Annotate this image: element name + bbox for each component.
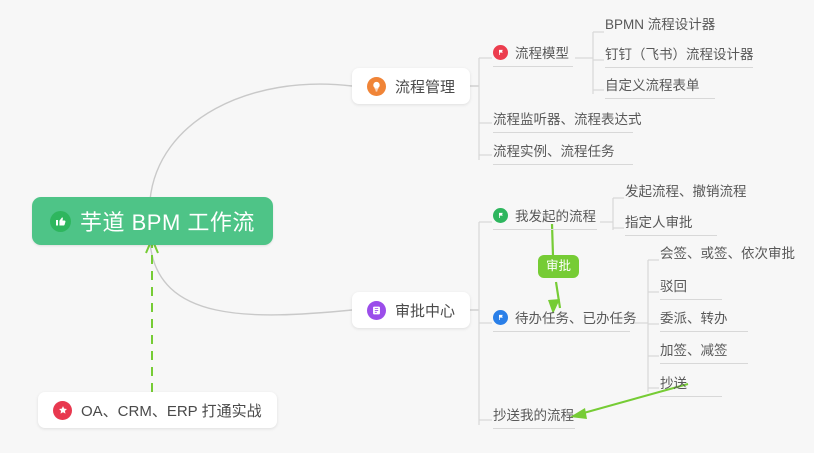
star-icon [53,401,72,420]
footer-node-oa-crm-erp[interactable]: OA、CRM、ERP 打通实战 [38,392,277,428]
flag-icon [493,208,508,223]
leaf-label: 流程模型 [515,42,569,62]
branch-label-process-management: 流程管理 [395,76,455,97]
leaf-label: 我发起的流程 [515,205,596,225]
mindmap-canvas: 芋道 BPM 工作流 流程管理 审批中心 [0,0,814,453]
leaf-label: 流程监听器、流程表达式 [493,108,642,128]
leaf-label: 会签、或签、依次审批 [660,242,795,262]
leaf-label: 流程实例、流程任务 [493,140,615,160]
leaf-assigned-approval[interactable]: 指定人审批 [625,211,717,236]
root-node[interactable]: 芋道 BPM 工作流 [32,197,273,245]
branch-label-approval-center: 审批中心 [395,300,455,321]
leaf-label: 驳回 [660,275,687,295]
leaf-dingtalk-designer[interactable]: 钉钉（飞书）流程设计器 [605,43,753,68]
root-label: 芋道 BPM 工作流 [80,205,255,237]
leaf-process-instance[interactable]: 流程实例、流程任务 [493,140,633,165]
leaf-label: 抄送我的流程 [493,404,574,424]
branch-node-process-management[interactable]: 流程管理 [352,68,470,104]
thumbs-up-icon [50,211,71,232]
leaf-label: 委派、转办 [660,307,728,327]
leaf-label: 发起流程、撤销流程 [625,180,747,200]
link-root-to-approval-center [150,243,352,315]
leaf-label: 抄送 [660,372,687,392]
leaf-label: 指定人审批 [625,211,693,231]
leaf-cc[interactable]: 抄送 [660,372,722,397]
link-root-to-process-management [150,84,352,200]
leaf-my-processes[interactable]: 我发起的流程 [493,205,597,230]
leaf-process-listener[interactable]: 流程监听器、流程表达式 [493,108,633,133]
leaf-label: BPMN 流程设计器 [605,13,715,33]
footer-node-label: OA、CRM、ERP 打通实战 [81,400,262,421]
leaf-process-model[interactable]: 流程模型 [493,42,573,67]
leaf-label: 自定义流程表单 [605,74,700,94]
leaf-todo-tasks[interactable]: 待办任务、已办任务 [493,307,630,332]
annotation-badge-approval: 审批 [538,255,579,278]
leaf-delegate-transfer[interactable]: 委派、转办 [660,307,748,332]
leaf-add-remove-sign[interactable]: 加签、减签 [660,339,748,364]
leaf-reject[interactable]: 驳回 [660,275,722,300]
leaf-label: 加签、减签 [660,339,728,359]
leaf-cc-my-processes[interactable]: 抄送我的流程 [493,404,575,429]
leaf-label: 待办任务、已办任务 [515,307,637,327]
clipboard-icon [367,301,386,320]
leaf-label: 钉钉（飞书）流程设计器 [605,43,754,63]
leaf-bpmn-designer[interactable]: BPMN 流程设计器 [605,13,753,37]
lightbulb-icon [367,77,386,96]
leaf-multi-sign[interactable]: 会签、或签、依次审批 [660,242,788,266]
leaf-start-cancel-process[interactable]: 发起流程、撤销流程 [625,180,753,204]
flag-icon [493,45,508,60]
branch-node-approval-center[interactable]: 审批中心 [352,292,470,328]
flag-icon [493,310,508,325]
leaf-custom-form[interactable]: 自定义流程表单 [605,74,715,99]
